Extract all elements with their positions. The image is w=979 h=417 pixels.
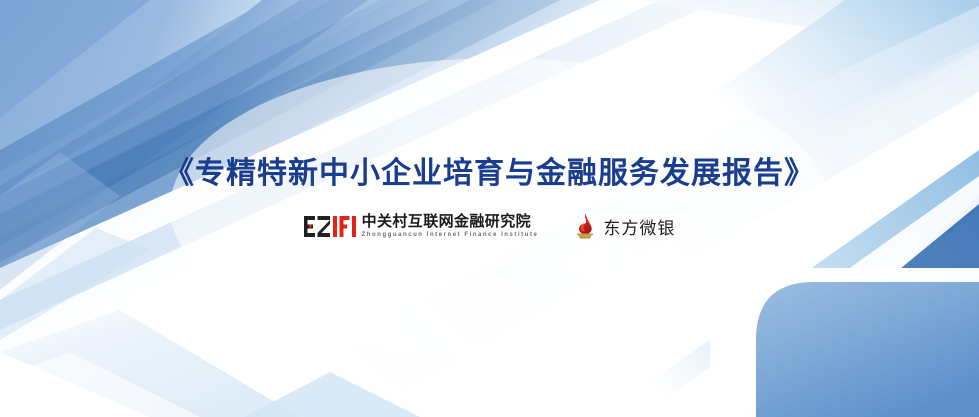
report-title: 《专精特新中小企业培育与金融服务发展报告》 bbox=[164, 156, 815, 192]
logo-row: 中关村互联网金融研究院 Zhongguancun Internet Financ… bbox=[304, 213, 676, 239]
ezifi-name-cn: 中关村互联网金融研究院 bbox=[362, 214, 539, 229]
report-cover-banner: 《专精特新中小企业培育与金融服务发展报告》 bbox=[0, 0, 979, 417]
flame-logo-icon bbox=[574, 213, 596, 239]
ezifi-logo: 中关村互联网金融研究院 Zhongguancun Internet Financ… bbox=[304, 214, 539, 238]
dongfangweiyin-logo: 东方微银 bbox=[574, 213, 675, 239]
cover-content: 《专精特新中小企业培育与金融服务发展报告》 bbox=[0, 0, 979, 417]
ezifi-name-en: Zhongguancun Internet Finance Institute bbox=[362, 232, 539, 238]
ezifi-logo-icon bbox=[304, 216, 356, 237]
dongfangweiyin-name-cn: 东方微银 bbox=[603, 214, 675, 239]
ezifi-wordmark: 中关村互联网金融研究院 Zhongguancun Internet Financ… bbox=[362, 214, 539, 238]
